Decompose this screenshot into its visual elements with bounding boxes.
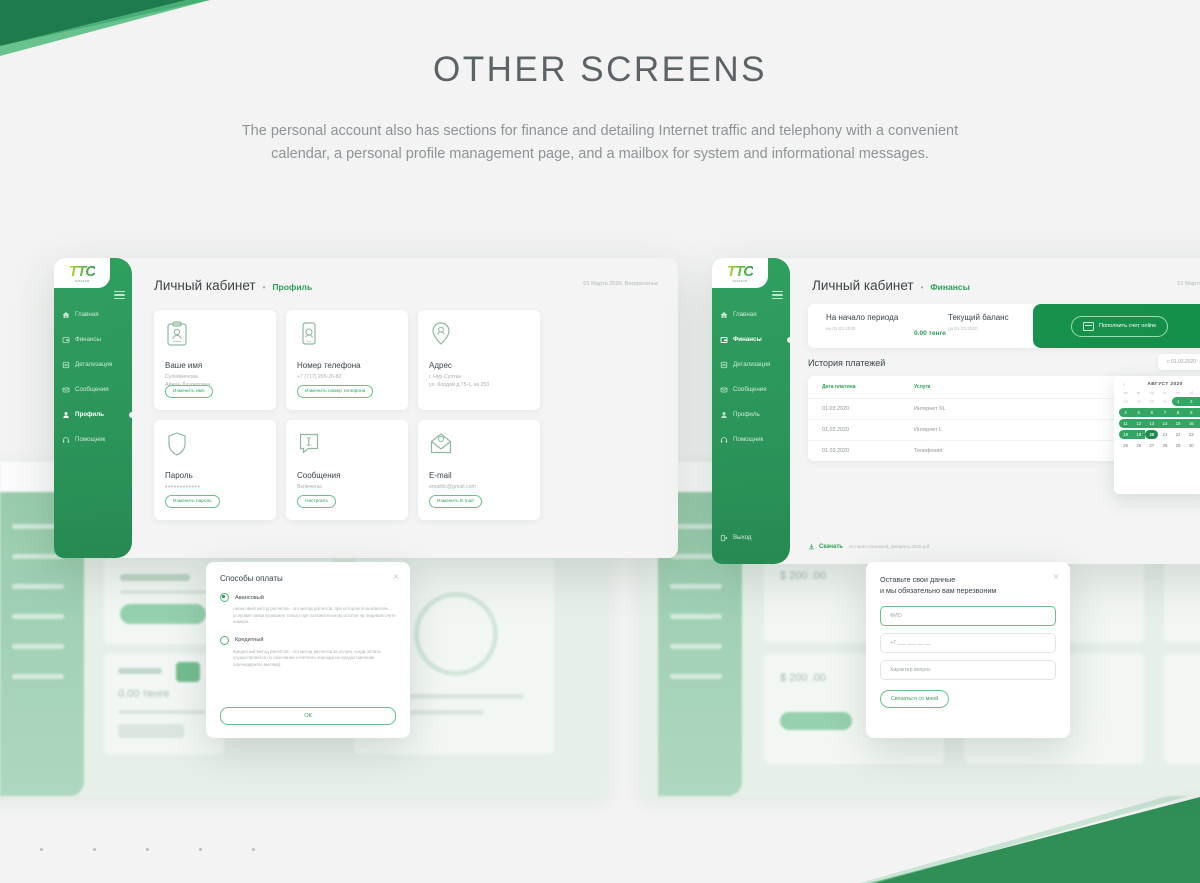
cell-date: 01.03.2020: [822, 448, 914, 454]
breadcrumb-separator: •: [921, 283, 924, 292]
card-address: Адрес г. Нур-Султан ул. Кордай д.75-1, к…: [418, 310, 540, 410]
calendar-month-label: АВГУСТ 2020: [1147, 382, 1182, 387]
slide-canvas: OTHER SCREENS The personal account also …: [0, 0, 1200, 883]
calendar-header: ‹ АВГУСТ 2020 ›: [1119, 382, 1200, 387]
download-label: Скачать: [819, 544, 843, 550]
sidebar-item-label: Выход: [733, 534, 752, 541]
ok-button[interactable]: ОК: [220, 707, 396, 725]
callback-modal: ✕ Оставьте свои данные и мы обязательно …: [866, 562, 1070, 738]
payment-methods-modal: ✕ Способы оплаты Авансовый Авансовый мет…: [206, 562, 410, 738]
card-icon: [1083, 322, 1094, 331]
modal-title-line1: Оставьте свои данные: [880, 574, 1056, 585]
balance-title: Текущий баланс: [948, 313, 1009, 322]
change-phone-button[interactable]: Изменить номер телефона: [297, 385, 373, 398]
sidebar-item-finansy[interactable]: Финансы: [712, 331, 790, 348]
radio-label: Авансовый: [235, 595, 264, 601]
location-pin-icon: [429, 321, 453, 347]
pagination-dot[interactable]: [252, 848, 255, 851]
breadcrumb: Личный кабинет • Профиль: [154, 278, 312, 293]
card-title: Сообщения: [297, 471, 397, 480]
sidebar-item-label: Сообщения: [733, 386, 767, 393]
card-value: ••••••••••••: [165, 484, 265, 491]
calendar-day[interactable]: 1: [1172, 397, 1185, 406]
calendar-day[interactable]: 30: [1145, 397, 1158, 406]
home-icon: [62, 311, 70, 319]
download-icon: [808, 543, 815, 550]
cell-date: 01.03.2020: [822, 406, 914, 412]
sidebar-item-detalizaciya[interactable]: Детализация: [54, 356, 132, 373]
card-title: E-mail: [429, 471, 529, 480]
configure-messages-button[interactable]: Настроить: [297, 495, 336, 508]
profile-sidebar: TTC ТЕЛЕКОМ Главная Финансы Детализация: [54, 258, 132, 558]
balance-current: Текущий баланс до 01.03.2020 0.00 тенге: [948, 313, 1009, 331]
breadcrumb-section[interactable]: Профиль: [272, 282, 312, 292]
calendar-day[interactable]: 22: [1172, 430, 1185, 439]
phone-icon: [297, 321, 321, 347]
sidebar-item-pomoshchnik[interactable]: Помощник: [54, 431, 132, 448]
finance-sidebar: TTC ТЕЛЕКОМ Главная Финансы Детализация: [712, 258, 790, 564]
card-your-name: Ваше имя Сулейменова Айжан Даулетовна Из…: [154, 310, 276, 410]
list-icon: [62, 361, 70, 369]
mail-icon: [62, 386, 70, 394]
card-email: E-mail emailttc@gmail.com Изменить E-mai…: [418, 420, 540, 520]
contact-me-button[interactable]: Связаться со мной: [880, 690, 949, 708]
balance-subtitle: до 01.03.2020: [948, 326, 1009, 331]
balance-value: 0.00 тенге: [914, 330, 946, 337]
sidebar-item-pomoshchnik[interactable]: Помощник: [712, 431, 790, 448]
radio-description: Кредитный метод расчётов - это метод рас…: [233, 649, 396, 669]
sidebar-footer: Выход: [712, 529, 790, 554]
header-date: 01 Марта 2020, Воскресенье: [583, 281, 658, 287]
balance-period-start: На начало периода на 01.03.2020 0.00 тен…: [826, 313, 898, 331]
calendar-day[interactable]: 29: [1132, 397, 1145, 406]
calendar-day[interactable]: 11: [1119, 419, 1132, 428]
phone-field[interactable]: +7 ___ ___ __ __: [880, 633, 1056, 653]
envelope-icon: [429, 431, 453, 457]
calendar-day[interactable]: 21: [1158, 430, 1171, 439]
calendar-dow: чт: [1158, 391, 1171, 395]
card-title: Номер телефона: [297, 361, 397, 370]
pagination-dot[interactable]: [199, 848, 202, 851]
card-messages: Сообщения Включены Настроить: [286, 420, 408, 520]
sidebar-item-detalizaciya[interactable]: Детализация: [712, 356, 790, 373]
question-field[interactable]: Характер вопрос: [880, 660, 1056, 680]
shield-icon: [165, 431, 189, 457]
column-header-date: Дата платежа: [822, 384, 914, 390]
calendar-day[interactable]: 25: [1119, 441, 1132, 450]
card-title: Ваше имя: [165, 361, 265, 370]
calendar-dow: вт: [1132, 391, 1145, 395]
sidebar-item-label: Помощник: [733, 436, 763, 443]
sidebar-item-logout[interactable]: Выход: [712, 529, 790, 546]
breadcrumb-separator: •: [263, 283, 266, 292]
calendar-dow: пт: [1172, 391, 1185, 395]
id-card-icon: [165, 321, 189, 347]
modal-title: Оставьте свои данные и мы обязательно ва…: [880, 574, 1056, 596]
sidebar-item-label: Главная: [733, 311, 757, 318]
phone-placeholder: +7 ___ ___ __ __: [890, 640, 931, 646]
mail-icon: [720, 386, 728, 394]
calendar-dow: пн: [1119, 391, 1132, 395]
calendar-day[interactable]: 26: [1132, 441, 1145, 450]
wallet-icon: [720, 336, 728, 344]
calendar-day[interactable]: 31: [1158, 397, 1171, 406]
sidebar-item-label: Помощник: [75, 436, 105, 443]
sidebar-item-soobshcheniya[interactable]: Сообщения: [712, 381, 790, 398]
profile-card-grid: Ваше имя Сулейменова Айжан Даулетовна Из…: [154, 310, 540, 520]
calendar-day[interactable]: 13: [1145, 419, 1158, 428]
card-title: Адрес: [429, 361, 529, 370]
window-title: Личный кабинет: [812, 278, 914, 293]
topup-panel: Пополнить счет online: [1033, 304, 1200, 348]
list-icon: [720, 361, 728, 369]
sidebar-item-label: Финансы: [733, 336, 762, 343]
wallet-icon: [62, 336, 70, 344]
profile-window: TTC ТЕЛЕКОМ Главная Финансы Детализация: [54, 258, 678, 558]
card-value: emailttc@gmail.com: [429, 484, 529, 492]
calendar-day[interactable]: 14: [1158, 419, 1171, 428]
profile-content: Личный кабинет • Профиль 01 Марта 2020, …: [132, 258, 678, 558]
logo[interactable]: TTC ТЕЛЕКОМ: [54, 258, 110, 288]
card-password: Пароль •••••••••••• Изменить пароль: [154, 420, 276, 520]
card-phone-number: Номер телефона +7 (717) 265-26-82 Измени…: [286, 310, 408, 410]
finance-nav-list: Главная Финансы Детализация Сообщения: [712, 306, 790, 456]
balance-subtitle: на 01.03.2020: [826, 326, 898, 331]
pagination-dot[interactable]: [40, 848, 43, 851]
sidebar-item-label: Профиль: [733, 411, 760, 418]
card-value: Включены: [297, 484, 397, 492]
calendar-day[interactable]: 6: [1145, 408, 1158, 417]
calendar-day[interactable]: 27: [1145, 441, 1158, 450]
date-from-button[interactable]: с 01.03.2020: [1158, 354, 1200, 370]
calendar-day[interactable]: 18: [1119, 430, 1132, 439]
sidebar-item-label: Детализация: [75, 361, 112, 368]
logo[interactable]: TTC ТЕЛЕКОМ: [712, 258, 768, 288]
logo-subtitle: ТЕЛЕКОМ: [732, 280, 747, 283]
logo-mark: TTC: [69, 264, 95, 279]
fio-placeholder: ФИО: [890, 613, 902, 619]
calendar-day[interactable]: 19: [1132, 430, 1145, 439]
window-title: Личный кабинет: [154, 278, 256, 293]
sidebar-item-finansy[interactable]: Финансы: [54, 331, 132, 348]
radio-icon[interactable]: [220, 593, 229, 602]
profile-nav-list: Главная Финансы Детализация Сообщения Пр: [54, 306, 132, 456]
header-date: 01 Марта 2020, Воскресенье: [1177, 281, 1200, 287]
question-placeholder: Характер вопрос: [890, 667, 931, 673]
radio-option-credit[interactable]: Кредитный: [220, 636, 396, 645]
calendar-day[interactable]: 28: [1119, 397, 1132, 406]
calendar-day[interactable]: 30: [1185, 441, 1198, 450]
calendar-day[interactable]: 12: [1132, 419, 1145, 428]
chat-icon: [297, 431, 321, 457]
download-button[interactable]: Скачать: [808, 543, 843, 550]
sidebar-item-label: Детализация: [733, 361, 770, 368]
user-icon: [720, 411, 728, 419]
calendar-day[interactable]: 20: [1145, 430, 1158, 439]
balance-bar: На начало периода на 01.03.2020 0.00 тен…: [808, 304, 1200, 348]
sidebar-item-glavnaya[interactable]: Главная: [712, 306, 790, 323]
change-email-button[interactable]: Изменить E-mail: [429, 495, 482, 508]
radio-label: Кредитный: [235, 637, 264, 643]
card-value: +7 (717) 265-26-82: [297, 374, 397, 382]
modal-title-line2: и мы обязательно вам перезвоним: [880, 585, 1056, 596]
close-icon[interactable]: ✕: [1053, 573, 1059, 581]
calendar-day[interactable]: 16: [1185, 419, 1198, 428]
history-title: История платежей: [808, 358, 885, 368]
sidebar-item-glavnaya[interactable]: Главная: [54, 306, 132, 323]
logout-icon: [720, 534, 728, 542]
calendar-day[interactable]: 5: [1132, 408, 1145, 417]
logo-subtitle: ТЕЛЕКОМ: [74, 280, 89, 283]
modal-title: Способы оплаты: [220, 574, 396, 583]
calendar-day[interactable]: 8: [1172, 408, 1185, 417]
radio-description: Авансовый метод расчетов - это метод рас…: [233, 606, 396, 626]
menu-toggle-icon[interactable]: [114, 291, 125, 299]
pagination-dots[interactable]: [40, 848, 255, 851]
close-icon[interactable]: ✕: [393, 573, 399, 581]
cell-date: 01.03.2020: [822, 427, 914, 433]
sidebar-item-label: Профиль: [75, 411, 104, 418]
download-row: Скачать История платежей_февраль 2020.pd…: [808, 543, 929, 550]
radio-option-advance[interactable]: Авансовый: [220, 593, 396, 602]
calendar-day[interactable]: 4: [1119, 408, 1132, 417]
sidebar-item-label: Финансы: [75, 336, 101, 343]
logo-mark: TTC: [727, 264, 753, 279]
pagination-dot[interactable]: [146, 848, 149, 851]
change-name-button[interactable]: Изменить имя: [165, 385, 213, 398]
sidebar-item-label: Главная: [75, 311, 99, 318]
date-picker-calendar[interactable]: ‹ АВГУСТ 2020 › пн вт ср чт пт сб вс 282…: [1114, 376, 1200, 494]
radio-icon[interactable]: [220, 636, 229, 645]
calendar-day[interactable]: 7: [1158, 408, 1171, 417]
card-title: Пароль: [165, 471, 265, 480]
pagination-dot[interactable]: [93, 848, 96, 851]
sidebar-item-soobshcheniya[interactable]: Сообщения: [54, 381, 132, 398]
card-value: г. Нур-Султан ул. Кордай д.75-1, кв.253: [429, 374, 529, 389]
topup-label: Пополнить счет online: [1099, 323, 1156, 329]
calendar-dow: ср: [1145, 391, 1158, 395]
menu-toggle-icon[interactable]: [772, 291, 783, 299]
calendar-day[interactable]: 23: [1185, 430, 1198, 439]
calendar-day[interactable]: 29: [1172, 441, 1185, 450]
date-range-filter: с 01.03.2020 по 01.03.2020: [1158, 354, 1200, 370]
chevron-left-icon[interactable]: ‹: [1123, 382, 1125, 388]
user-icon: [62, 411, 70, 419]
fio-field[interactable]: ФИО: [880, 606, 1056, 626]
breadcrumb: Личный кабинет • Финансы: [812, 278, 970, 293]
balance-title: На начало периода: [826, 313, 898, 322]
calendar-day[interactable]: 28: [1158, 441, 1171, 450]
calendar-grid: пн вт ср чт пт сб вс 2829303112345678910…: [1119, 391, 1200, 450]
calendar-dow: сб: [1185, 391, 1198, 395]
sidebar-item-profil[interactable]: Профиль: [712, 406, 790, 423]
sidebar-item-label: Сообщения: [75, 386, 109, 393]
headset-icon: [720, 436, 728, 444]
change-password-button[interactable]: Изменить пароль: [165, 495, 220, 508]
topup-online-button[interactable]: Пополнить счет online: [1071, 316, 1168, 337]
headset-icon: [62, 436, 70, 444]
calendar-day[interactable]: 15: [1172, 419, 1185, 428]
breadcrumb-section[interactable]: Финансы: [930, 282, 969, 292]
sidebar-item-profil[interactable]: Профиль: [54, 406, 132, 423]
home-icon: [720, 311, 728, 319]
calendar-day[interactable]: 2: [1185, 397, 1198, 406]
download-filename: История платежей_февраль 2020.pdf: [849, 544, 929, 549]
calendar-day[interactable]: 9: [1185, 408, 1198, 417]
